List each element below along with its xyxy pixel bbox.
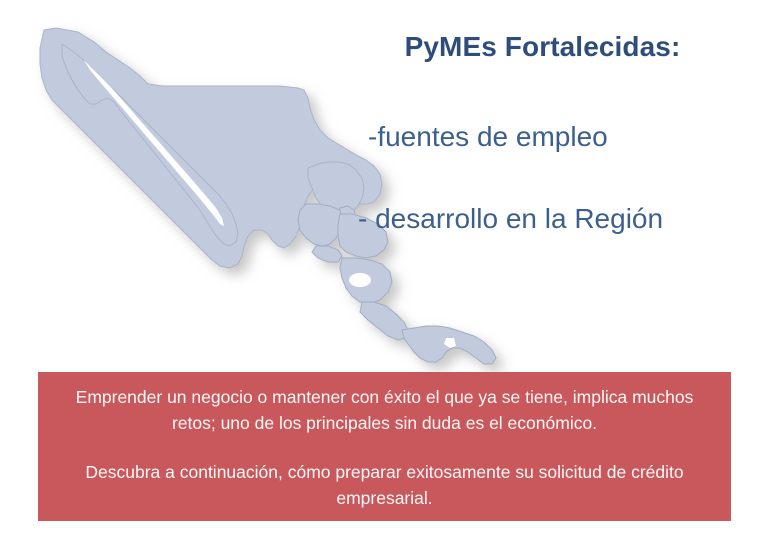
text-content-block: PyMEs Fortalecidas: -fuentes de empleo -… (330, 22, 755, 64)
lake-nicaragua (349, 273, 371, 287)
region-guatemala (298, 204, 342, 246)
bullet-item-regional-development: - desarrollo en la Región (358, 202, 663, 236)
region-el-salvador (312, 246, 342, 262)
bullet-item-employment: -fuentes de empleo (368, 120, 608, 154)
panama-canal-gap (444, 338, 456, 348)
slide-canvas: PyMEs Fortalecidas: -fuentes de empleo -… (0, 0, 768, 539)
region-panama (402, 326, 496, 364)
map-landmass-group (40, 28, 496, 364)
region-costa-rica (360, 302, 408, 340)
region-mexico (40, 28, 382, 268)
banner-paragraph-challenges: Emprender un negocio o mantener con éxit… (64, 384, 705, 437)
region-belize (338, 206, 356, 234)
region-nicaragua (340, 258, 392, 304)
region-yucatan (308, 162, 364, 216)
page-title: PyMEs Fortalecidas: (330, 22, 755, 64)
callout-banner: Emprender un negocio o mantener con éxit… (38, 372, 731, 521)
banner-paragraph-call-to-action: Descubra a continuación, cómo preparar e… (64, 459, 705, 512)
region-baja-california (62, 44, 238, 246)
gulf-of-california (84, 60, 224, 226)
